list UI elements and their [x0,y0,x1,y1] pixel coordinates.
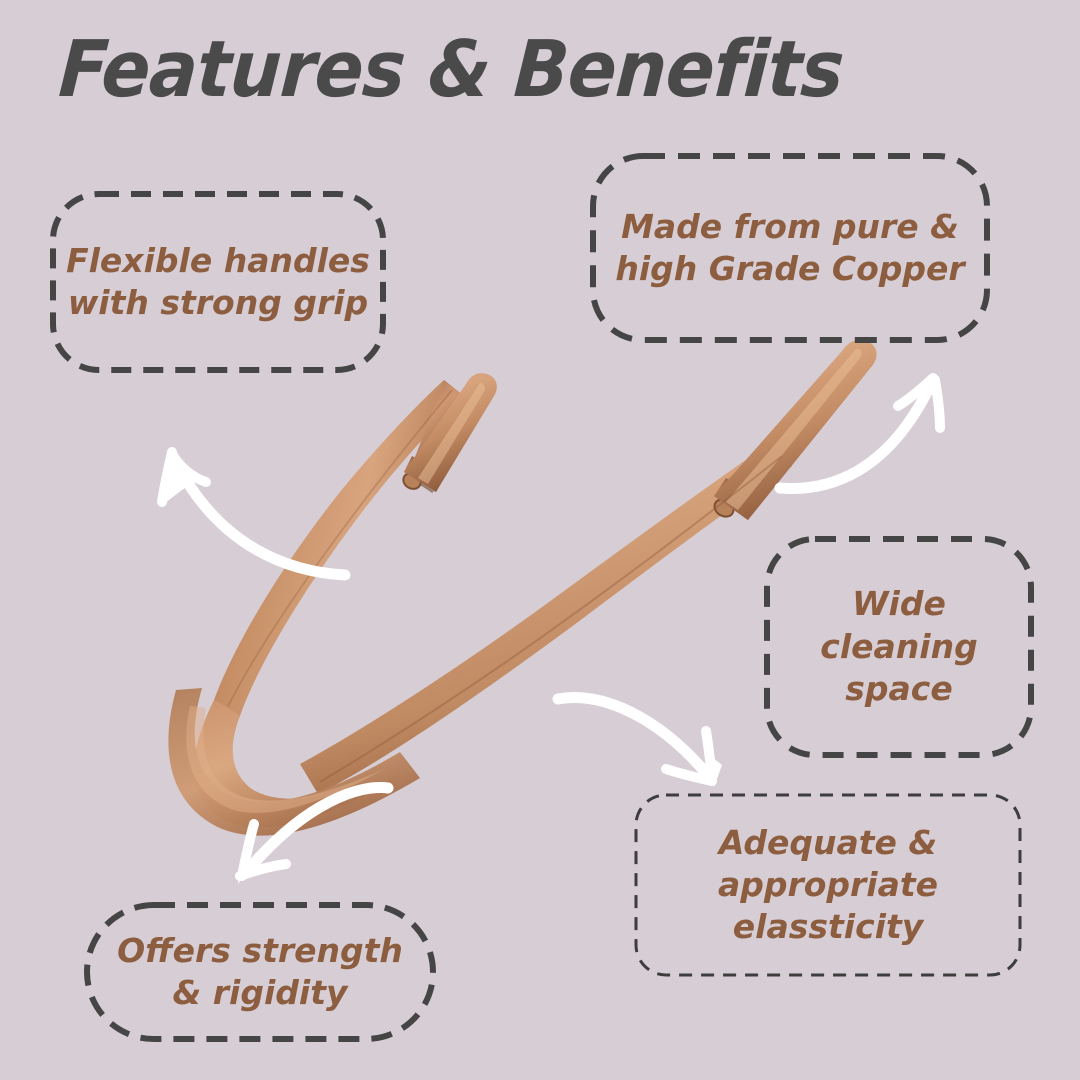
right-handle-highlight [726,349,861,510]
right-handle-stem [726,442,792,500]
bottom-bend-face [168,688,420,836]
left-handle-grip [404,373,497,492]
callout-wide-space[interactable]: Wide cleaning space [764,536,1034,758]
right-handle-grip [714,340,877,520]
right-handle [711,340,876,520]
left-arm-seam [228,390,452,706]
left-handle-highlight [418,383,485,484]
callout-flexible-handles-label: Flexible handles with strong grip [50,240,386,324]
left-handle-stem [414,380,464,470]
callout-strength-label: Offers strength & rigidity [84,930,436,1014]
bottom-bend-outer [194,700,400,827]
right-handle-knurl [711,478,760,520]
callout-flexible-handles[interactable]: Flexible handles with strong grip [50,191,386,373]
right-arm-seam [320,456,782,782]
arrow-to-elasticity-icon [540,655,770,815]
callout-pure-copper[interactable]: Made from pure & high Grade Copper [590,153,990,343]
bottom-bend-highlight [186,706,386,813]
callout-elasticity-label: Adequate & appropriate elassticity [634,822,1022,949]
arrow-to-pure-copper-icon [770,360,960,500]
arrow-to-strength-icon [210,758,440,908]
arrow-to-flexible-handles-icon [150,440,360,590]
callout-elasticity[interactable]: Adequate & appropriate elassticity [634,793,1022,977]
left-arm-blade [214,380,464,716]
page-title: Features & Benefits [56,28,845,114]
callout-pure-copper-label: Made from pure & high Grade Copper [590,206,990,290]
left-handle-knurl [400,456,444,492]
left-handle [400,373,496,492]
callout-strength[interactable]: Offers strength & rigidity [84,902,436,1042]
callout-wide-space-label: Wide cleaning space [764,583,1034,712]
right-arm-blade [300,442,792,794]
infographic-canvas: Features & Benefits [0,0,1080,1080]
